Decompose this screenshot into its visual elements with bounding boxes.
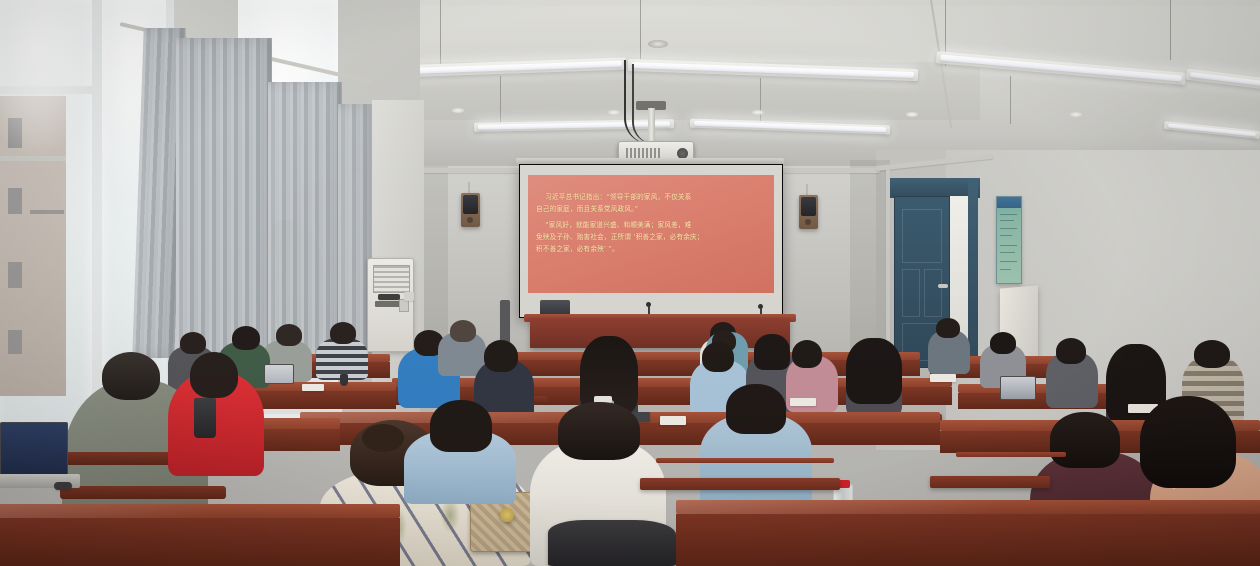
speaker-left (461, 193, 480, 227)
draped-jacket (548, 520, 676, 566)
downlight-5 (608, 110, 620, 115)
cup-back-1 (340, 374, 348, 386)
speaker-right-tweeter (805, 219, 811, 225)
light-wire-9 (1010, 76, 1011, 124)
podium-desk (530, 318, 790, 348)
downlight-8 (1070, 112, 1082, 117)
speaker-left-tweeter (467, 217, 473, 223)
outside-window-2 (8, 188, 22, 214)
outside-window-1 (8, 118, 22, 148)
door-panel-mid2 (924, 269, 942, 317)
microphone-3-head (758, 304, 763, 309)
person-front-grey-hair (450, 320, 476, 342)
microphone-2-head (646, 302, 651, 307)
curtain-2 (176, 38, 272, 368)
person-grey-glasses-hair (276, 324, 302, 346)
person-stripe-hair (330, 322, 356, 344)
wall-box-left (378, 294, 400, 300)
notice-line-2 (1000, 220, 1014, 221)
paper-mid-2 (790, 398, 816, 406)
person-floral-hair (484, 340, 518, 372)
person-lightblue-right-hair (726, 384, 786, 434)
person-maroon-hair (1050, 412, 1120, 468)
bench-slat-right-1 (956, 452, 1066, 457)
speaker-right (799, 195, 818, 229)
desk-row-d-front (0, 518, 400, 566)
person-patterned-bun (362, 424, 404, 452)
outside-trim (0, 156, 66, 161)
paper-back-1 (302, 384, 324, 391)
projector-cable-2 (632, 64, 654, 144)
bench-foreground-center (640, 478, 840, 490)
laptop-foreground-screen[interactable] (0, 422, 68, 476)
bench-slat-center-1 (656, 458, 834, 463)
downlight-4 (452, 108, 464, 113)
door-panel-mid (902, 269, 920, 317)
conduit-vertical-right (886, 168, 890, 368)
desk-row-d-right (676, 500, 1260, 514)
air-conditioner-grille (373, 265, 410, 293)
classroom-photo: 习近平总书记指出：“领导干部的家风，不仅关系 自己的家庭，而且关系党风政风。” … (0, 0, 1260, 566)
desk-row-d-right-front (676, 514, 1260, 566)
wall-box-left-2 (404, 292, 414, 301)
door-jamb (968, 178, 978, 368)
door-panel-upper (902, 209, 942, 263)
slide-line-2: 自己的家庭，而且关系党风政风。” (536, 203, 766, 215)
speaker-left-cone (463, 195, 478, 214)
person-mid-dark-hair (754, 334, 790, 370)
notice-line-5 (1000, 245, 1017, 246)
person-green-hair (232, 326, 260, 350)
slide-line-1: 习近平总书记指出：“领导干部的家风，不仅关系 (536, 191, 766, 203)
light-wire-3 (640, 0, 641, 68)
person-left-dark-hair (180, 332, 206, 354)
handbag-clasp (500, 508, 514, 522)
door-header (890, 178, 980, 198)
person-stripe-right-hair (1194, 340, 1230, 368)
smoke-detector (648, 40, 668, 48)
person-peach-lace-hair (1140, 396, 1236, 488)
person-lightblue-fg-hair (430, 400, 492, 452)
notice-line-7 (1000, 261, 1017, 262)
notice-line-4 (1000, 235, 1012, 236)
downlight-6 (752, 110, 764, 115)
light-wire-8 (760, 78, 761, 124)
notice-line-6 (1000, 252, 1015, 253)
bench-foreground-right (930, 476, 1050, 488)
person-left-red-hair (190, 352, 238, 398)
tumbler-left (194, 398, 216, 438)
light-wire-2 (440, 0, 441, 68)
outside-window-4 (8, 330, 22, 354)
downlight-7 (906, 112, 918, 117)
air-conditioner-display (375, 301, 401, 307)
projector-vent (626, 148, 660, 158)
desk-row-d (0, 504, 400, 518)
notice-line-1 (1000, 214, 1017, 215)
air-conditioner (367, 258, 414, 352)
notice-line-3 (1000, 228, 1017, 229)
window-1-jamb (92, 0, 102, 452)
wall-notice-board (996, 196, 1022, 284)
person-right-back-3-hair (1056, 338, 1086, 364)
light-wire-5 (1170, 0, 1171, 60)
outside-balcony (30, 210, 64, 214)
person-back-1-hair (936, 318, 960, 338)
outside-window-3 (8, 262, 22, 288)
door-handle[interactable] (938, 284, 948, 288)
speaker-right-cone (801, 197, 816, 216)
laptop-back-left-screen (264, 364, 294, 384)
person-mid-pink-hair (792, 340, 822, 368)
person-white-shirt-hair (558, 402, 640, 460)
chair-left-foreground-2 (60, 486, 226, 499)
slide-line-5: 积不善之家，必有余殃’ ”。 (536, 243, 766, 255)
person-left-grey-hair (102, 352, 160, 400)
light-wire-7 (500, 76, 501, 124)
paper-right-1 (930, 374, 956, 382)
desk-right-b-front (958, 393, 1128, 409)
person-back-2-hair (990, 332, 1016, 354)
projected-slide: 习近平总书记指出：“领导干部的家风，不仅关系 自己的家庭，而且关系党风政风。” … (528, 175, 774, 293)
mouse-foreground (54, 482, 72, 490)
person-lightblue-mid-hair (702, 342, 734, 372)
notice-line-8 (1000, 269, 1011, 270)
person-right-longhair-1-hair (846, 338, 902, 404)
slide-line-3: “家风好，就能家道兴盛、和顺美满；家风差，难 (536, 219, 766, 231)
notice-board-header (997, 197, 1021, 208)
slide-line-4: 免殃及子孙、贻害社会，正所谓 ‘积善之家，必有余庆； (536, 231, 766, 243)
laptop-right-1-screen (1000, 376, 1036, 400)
projection-screen-frame: 习近平总书记指出：“领导干部的家风，不仅关系 自己的家庭，而且关系党风政风。” … (519, 164, 783, 318)
window-1-mullion-h (0, 86, 96, 94)
paper-mid-1 (660, 416, 686, 425)
